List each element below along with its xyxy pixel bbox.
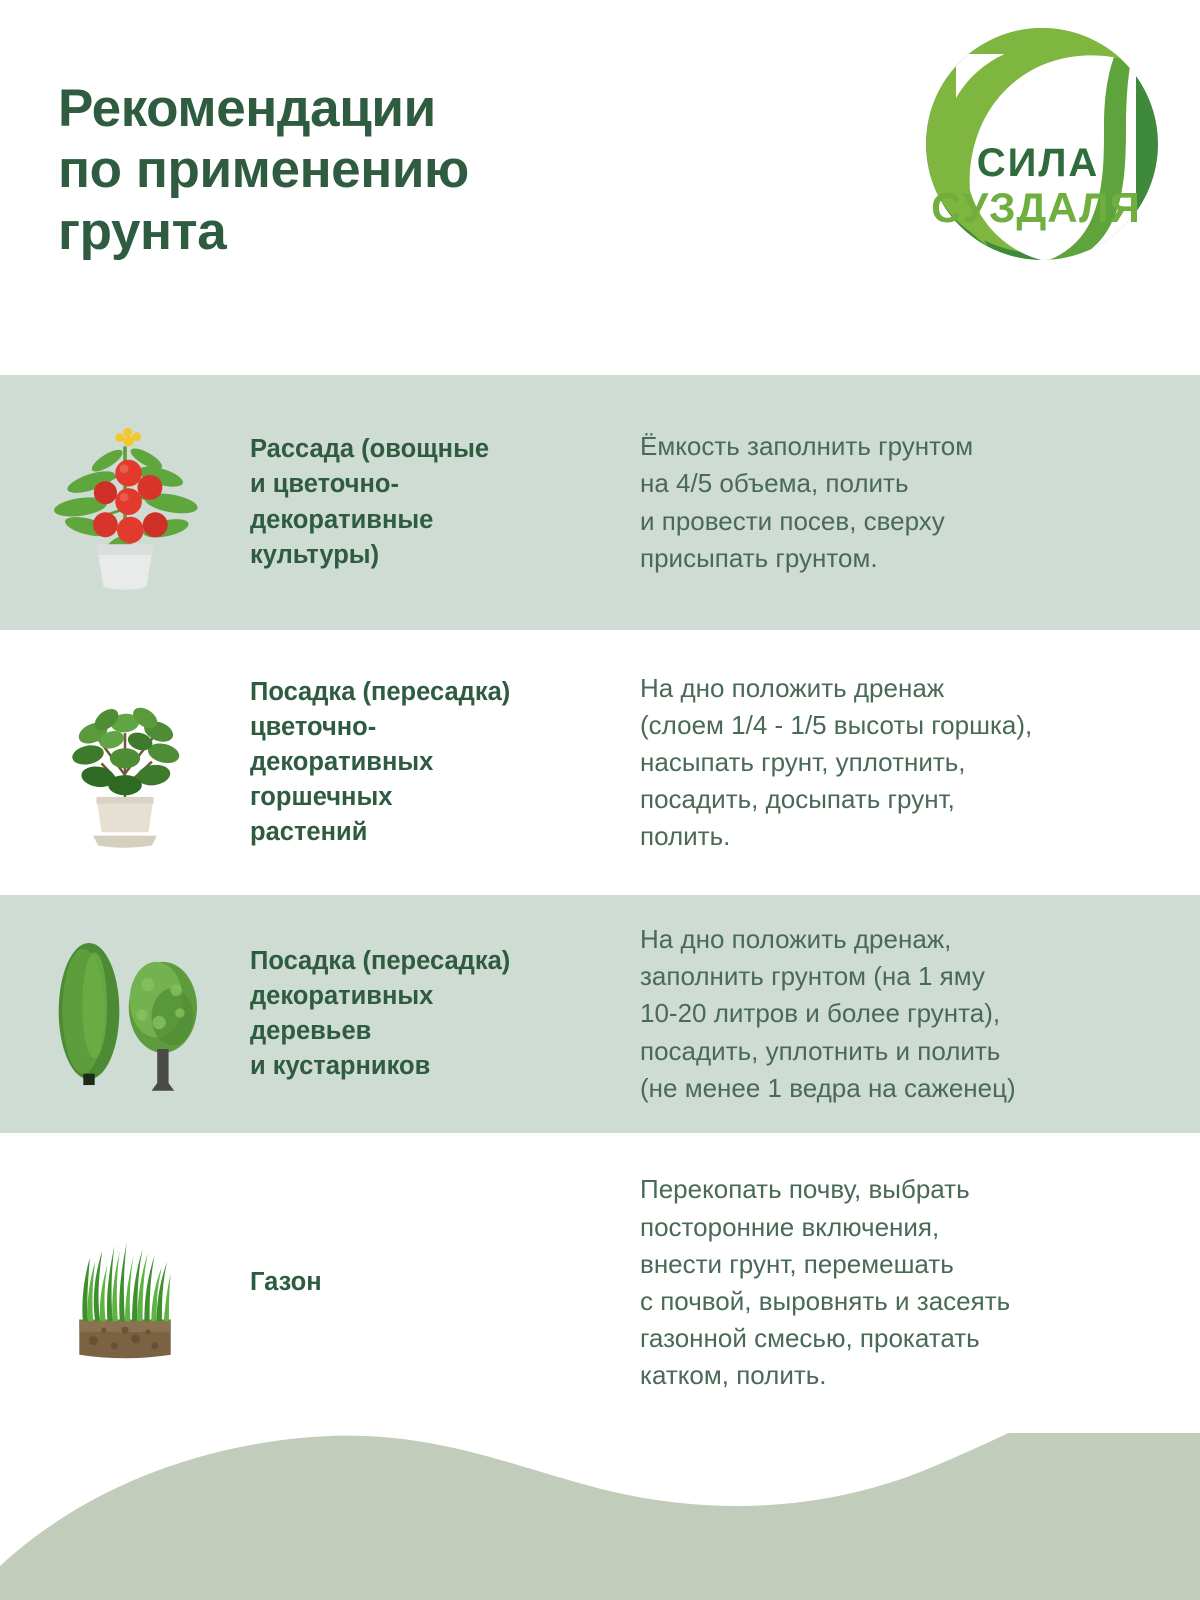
recommendation-row-seedlings: Рассада (овощные и цветочно- декоративны… xyxy=(0,375,1200,630)
lawn-grass-turf-image xyxy=(0,1200,250,1367)
row-description: Перекопать почву, выбрать посторонние вк… xyxy=(640,1171,1200,1394)
logo-text-line1: СИЛА xyxy=(977,141,1100,185)
decorative-trees-and-shrubs-image xyxy=(0,924,250,1104)
recommendation-row-trees-shrubs: Посадка (пересадка) декоративных деревье… xyxy=(0,895,1200,1133)
row-title: Рассада (овощные и цветочно- декоративны… xyxy=(250,432,640,573)
recommendation-row-lawn: Газон Перекопать почву, выбрать посторон… xyxy=(0,1133,1200,1433)
recommendation-row-potted-plants: Посадка (пересадка) цветочно- декоративн… xyxy=(0,630,1200,895)
potted-houseplant-image xyxy=(0,674,250,851)
brand-logo: СИЛА СУЗДАЛЯ xyxy=(912,14,1172,274)
row-title: Посадка (пересадка) декоративных деревье… xyxy=(250,944,640,1085)
row-description: На дно положить дренаж (слоем 1/4 - 1/5 … xyxy=(640,670,1200,856)
logo-text-line2: СУЗДАЛЯ xyxy=(931,184,1141,231)
row-description: На дно положить дренаж, заполнить грунто… xyxy=(640,921,1200,1107)
row-description: Ёмкость заполнить грунтом на 4/5 объема,… xyxy=(640,428,1200,577)
row-title: Газон xyxy=(250,1265,640,1300)
page-title: Рекомендации по применению грунта xyxy=(58,78,678,262)
page-header: Рекомендации по применению грунта СИЛА С… xyxy=(0,0,1200,375)
row-title: Посадка (пересадка) цветочно- декоративн… xyxy=(250,675,640,851)
recommendations-list: Рассада (овощные и цветочно- декоративны… xyxy=(0,375,1200,1433)
tomato-seedling-in-pot-image xyxy=(0,409,250,596)
